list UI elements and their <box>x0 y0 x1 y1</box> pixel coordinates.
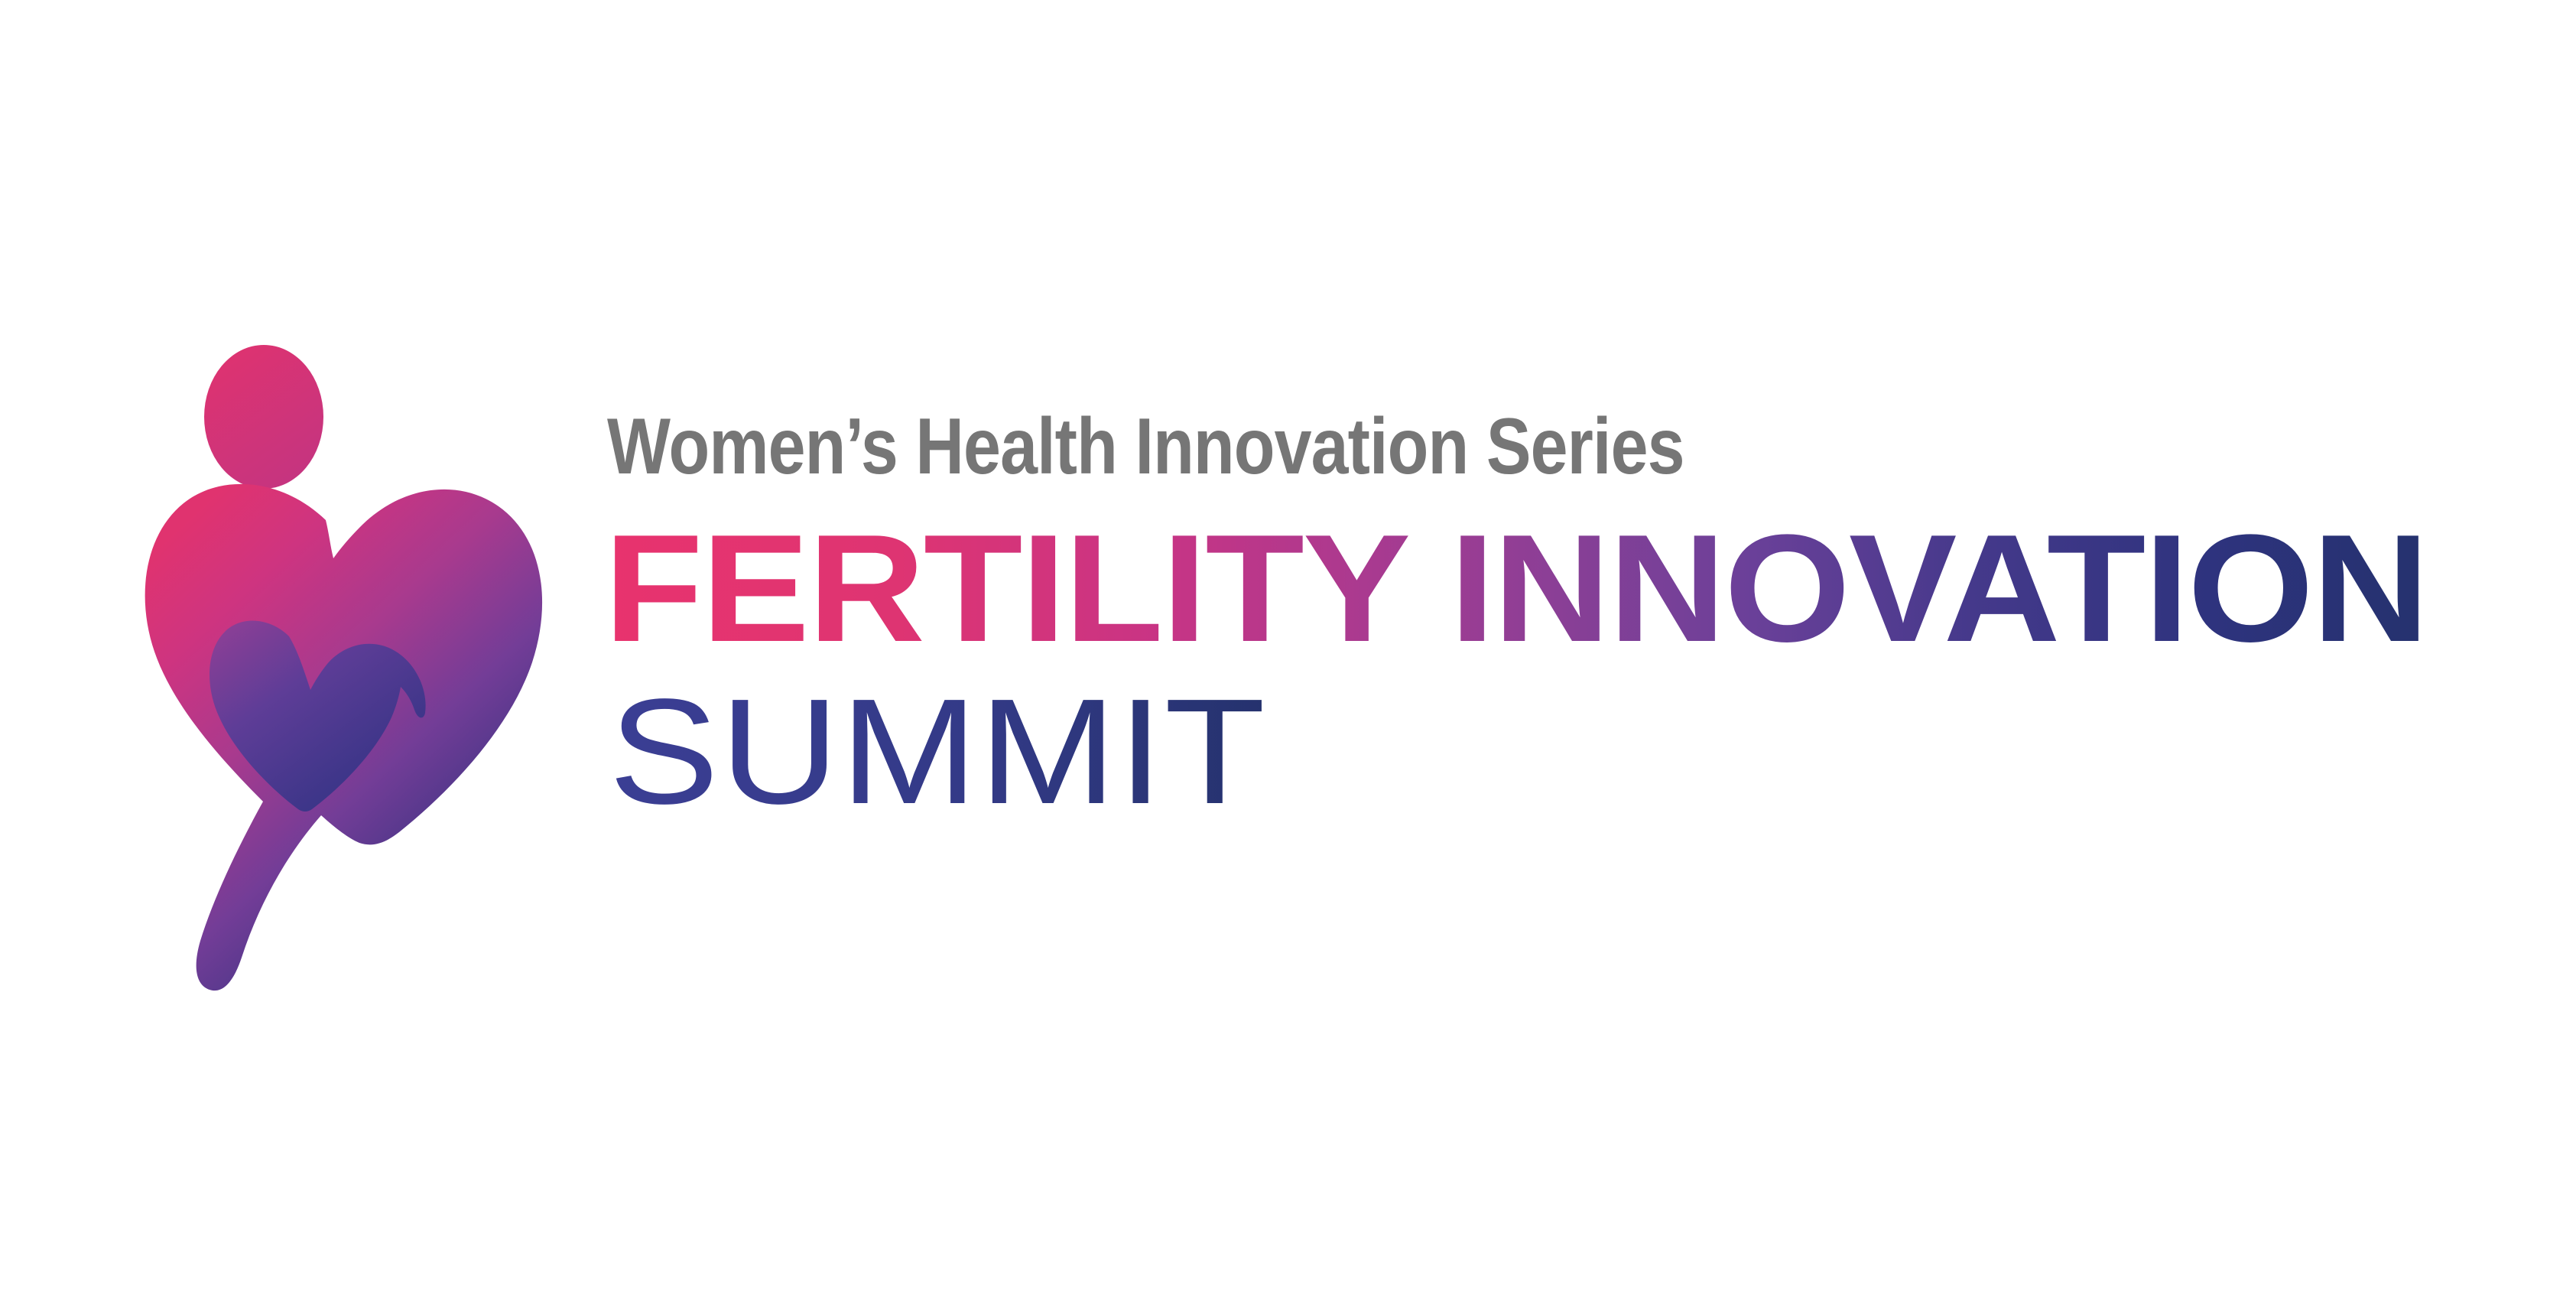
mother-and-child-heart-emblem <box>107 298 581 994</box>
main-title: FERTILITY INNOVATION <box>604 511 2439 656</box>
wordmark: Women’s Health Innovation Series <box>604 398 2477 887</box>
logo-canvas: Women’s Health Innovation Series <box>0 0 2576 1301</box>
subtitle: SUMMIT <box>609 667 1297 820</box>
subtitle-text: SUMMIT <box>609 668 1266 835</box>
emblem-head-shape <box>204 345 323 489</box>
main-title-text: FERTILITY INNOVATION <box>604 503 2428 674</box>
tagline: Women’s Health Innovation Series <box>607 407 1684 486</box>
